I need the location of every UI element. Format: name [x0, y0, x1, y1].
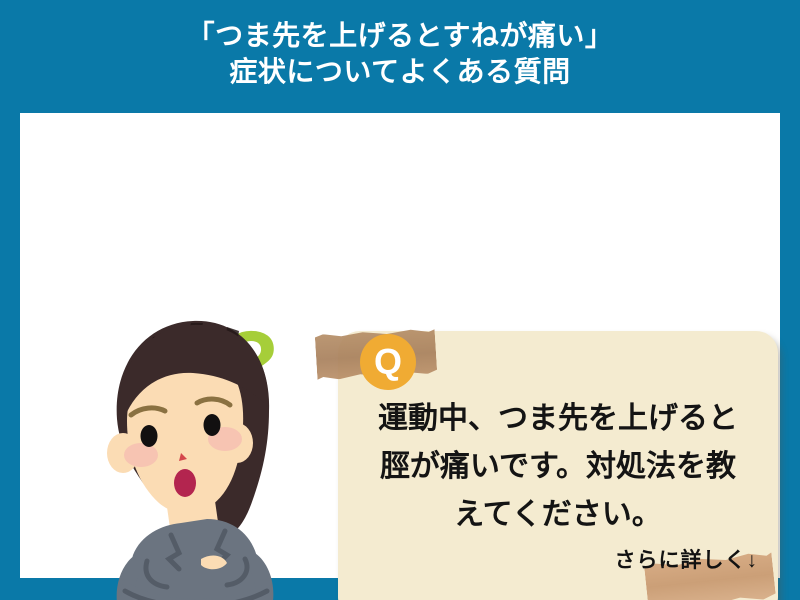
- woman-thinking-illustration: ?: [75, 303, 310, 600]
- eye-left: [141, 425, 158, 447]
- eye-right: [204, 414, 221, 436]
- question-line-1: 運動中、つま先を上げると: [352, 395, 764, 443]
- question-text: 運動中、つま先を上げると 脛が痛いです。対処法を教 えてください。: [352, 395, 764, 539]
- question-line-3: えてください。: [352, 491, 764, 539]
- cheek-left: [124, 443, 158, 467]
- content-panel: ?: [20, 113, 780, 578]
- page-title-line-1: 「つま先を上げるとすねが痛い」: [0, 18, 800, 54]
- page-title: 「つま先を上げるとすねが痛い」 症状についてよくある質問: [0, 18, 800, 90]
- question-line-2: 脛が痛いです。対処法を教: [352, 443, 764, 491]
- mouth: [174, 469, 196, 497]
- question-badge: Q: [360, 334, 416, 390]
- page-title-line-2: 症状についてよくある質問: [0, 54, 800, 90]
- more-details-label[interactable]: さらに詳しく↓: [615, 544, 759, 574]
- slide-canvas: 「つま先を上げるとすねが痛い」 症状についてよくある質問 ?: [0, 0, 800, 600]
